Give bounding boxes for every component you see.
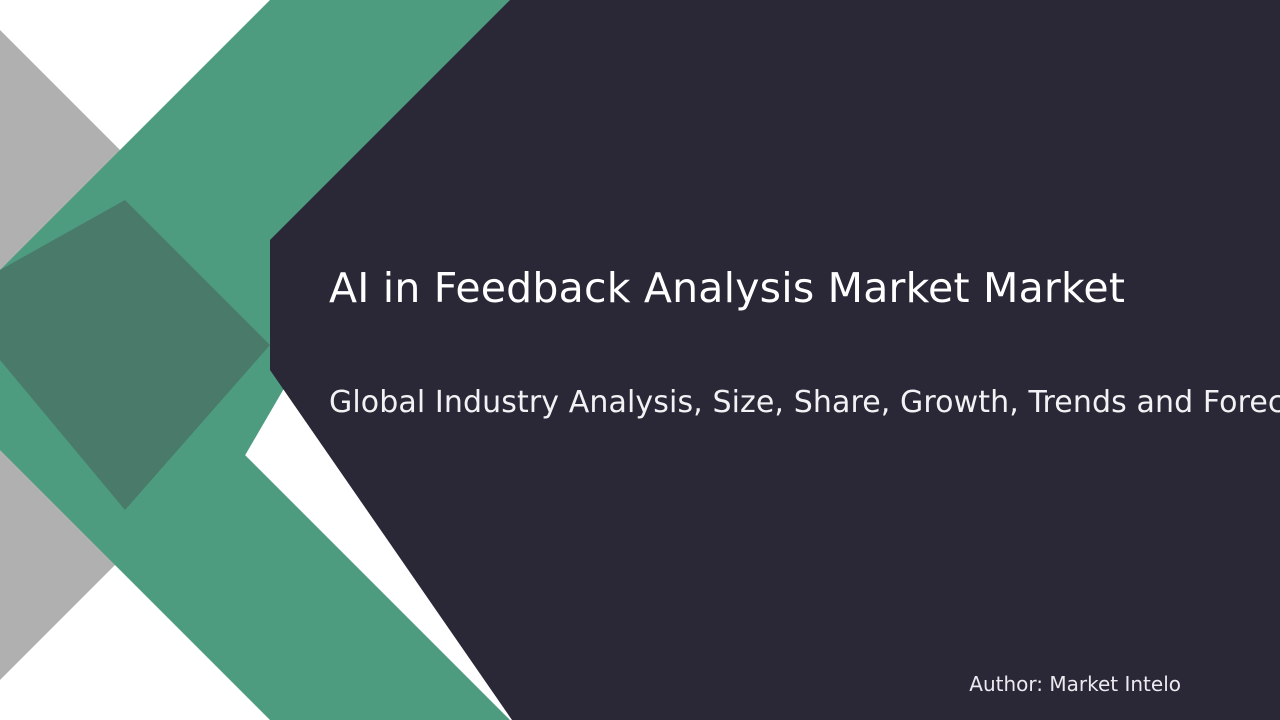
slide-content: AI in Feedback Analysis Market Market Gl… bbox=[0, 0, 1280, 720]
title-slide: AI in Feedback Analysis Market Market Gl… bbox=[0, 0, 1280, 720]
page-title: AI in Feedback Analysis Market Market bbox=[329, 262, 1239, 314]
author-label: Author: Market Intelo bbox=[0, 671, 1181, 697]
slide-subtitle: Global Industry Analysis, Size, Share, G… bbox=[329, 384, 1249, 422]
